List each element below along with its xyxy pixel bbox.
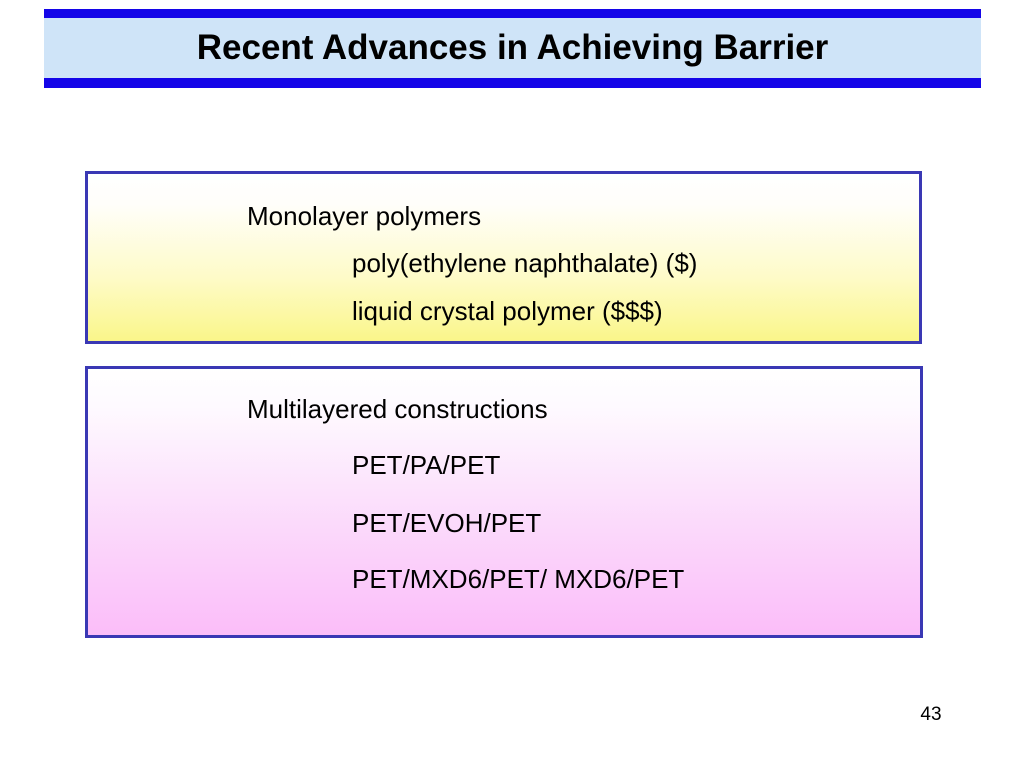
multilayer-item-pet-mxd6-pet: PET/MXD6/PET/ MXD6/PET <box>352 566 684 592</box>
slide-title-banner: Recent Advances in Achieving Barrier <box>44 9 981 88</box>
monolayer-item-pen: poly(ethylene naphthalate) ($) <box>352 250 697 276</box>
monolayer-polymers-box: Monolayer polymers poly(ethylene naphtha… <box>85 171 922 344</box>
page-title: Recent Advances in Achieving Barrier <box>44 18 981 78</box>
multilayer-item-pet-pa-pet: PET/PA/PET <box>352 452 500 478</box>
monolayer-heading: Monolayer polymers <box>247 203 481 229</box>
slide-canvas: Recent Advances in Achieving Barrier Mon… <box>0 0 1024 768</box>
slide-page-number: 43 <box>911 704 951 726</box>
multilayered-constructions-box: Multilayered constructions PET/PA/PET PE… <box>85 366 923 638</box>
monolayer-item-lcp: liquid crystal polymer ($$$) <box>352 298 663 324</box>
multilayer-heading: Multilayered constructions <box>247 396 548 422</box>
multilayer-item-pet-evoh-pet: PET/EVOH/PET <box>352 510 541 536</box>
